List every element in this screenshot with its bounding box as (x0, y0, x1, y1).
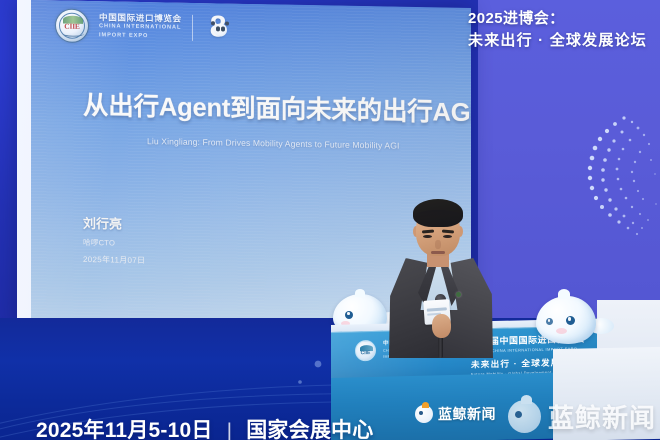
watermark-small-label: 蓝鲸新闻 (438, 404, 496, 424)
screenshot-root: CIIE 中国国际进口博览会 CHINA INTERNATIONAL IMPOR… (0, 0, 660, 440)
watermark-large-label: 蓝鲸新闻 (548, 398, 656, 435)
slide-logo-cn: 中国国际进口博览会 (99, 13, 182, 24)
bottom-strip-separator: | (227, 420, 233, 440)
mouth (431, 251, 445, 254)
logo-divider (192, 15, 193, 41)
bluewhale-logo-large-icon (508, 400, 541, 433)
lapel-pin-icon (456, 292, 461, 297)
forum-banner-line1: 2025进博会： (468, 8, 660, 30)
particle-crescent-decoration (552, 108, 660, 258)
watermark-small: 蓝鲸新闻 (415, 404, 496, 424)
bottom-strip-dates: 2025年11月5-10日 (36, 414, 213, 440)
podium-ciie-seal-icon: CIIE (355, 340, 376, 362)
slide-title: 从出行Agent到面向未来的出行AGI (83, 85, 471, 129)
podium-seal-text: CIIE (356, 350, 375, 356)
slide-subtitle: Liu Xingliang: From Drives Mobility Agen… (147, 136, 471, 152)
bluewhale-logo-icon (415, 405, 433, 423)
watermark-large: 蓝鲸新闻 (508, 398, 656, 435)
slide-speaker-block: 刘行亮 哈啰CTO 2025年11月07日 (83, 213, 145, 266)
speaker-role: 哈啰CTO (83, 237, 145, 249)
bottom-strip-venue: 国家会展中心 (246, 414, 373, 440)
bottom-strip: 2025年11月5-10日 | 国家会展中心 (36, 414, 373, 440)
forum-banner: 2025进博会： 未来出行 · 全球发展论坛 (468, 8, 660, 52)
speaker-name: 刘行亮 (83, 213, 145, 233)
slide-logo-lockup: CIIE 中国国际进口博览会 CHINA INTERNATIONAL IMPOR… (55, 8, 233, 45)
hand (432, 314, 451, 338)
slide-logo-en-line2: IMPORT EXPO (99, 32, 182, 41)
hair (413, 199, 463, 227)
whale-mascot-right (536, 296, 614, 348)
nose (435, 240, 441, 249)
speaker-figure (383, 196, 503, 356)
ciie-seal-icon: CIIE (55, 8, 89, 43)
slide-date: 2025年11月07日 (83, 254, 145, 266)
slide-logo-en-line1: CHINA INTERNATIONAL (99, 23, 182, 32)
forum-banner-line2: 未来出行 · 全球发展论坛 (468, 30, 660, 52)
panda-jinbao-icon: 8 (203, 12, 233, 45)
